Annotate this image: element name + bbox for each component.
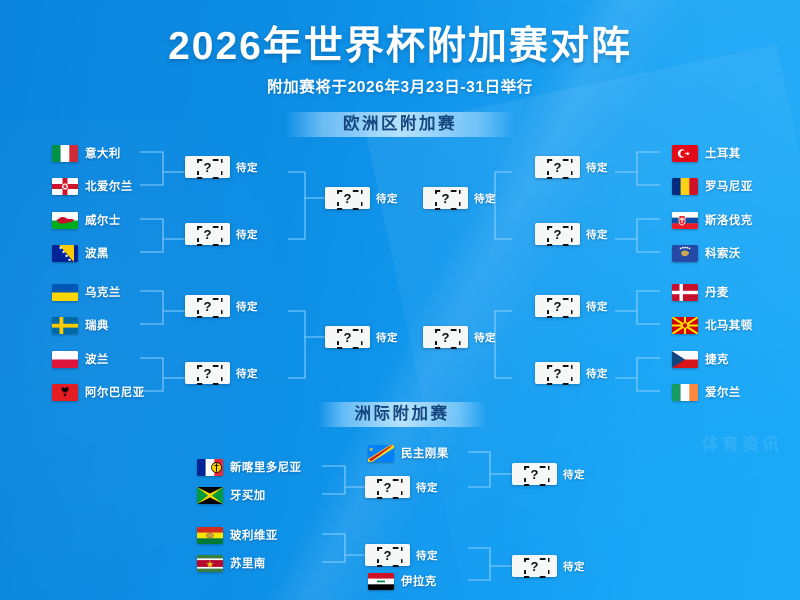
question-mark-icon: ? xyxy=(435,329,457,345)
team-row: 波兰 xyxy=(52,350,109,368)
tbd-label: 待定 xyxy=(376,330,398,345)
team-row: 北爱尔兰 xyxy=(52,177,133,195)
team-name: 北爱尔兰 xyxy=(85,178,133,194)
flag-bolivia-icon xyxy=(197,527,223,544)
question-mark-icon: ? xyxy=(377,547,399,563)
match-slot-tbd-final: ? 待定 xyxy=(512,555,585,577)
tbd-label: 待定 xyxy=(474,330,496,345)
playoff-bracket-poster: 体育资讯 2026年世界杯附加赛对阵 附加赛将于2026年3月23日-31日举行… xyxy=(0,0,800,600)
match-slot-tbd-final: ? 待定 xyxy=(512,463,585,485)
flag-iraq-icon xyxy=(368,573,394,590)
flag-new-caledonia-icon xyxy=(197,459,223,476)
tbd-label: 待定 xyxy=(586,299,608,314)
tbd-box: ? xyxy=(512,555,557,577)
flag-poland-icon xyxy=(52,351,78,368)
team-row: 瑞典 xyxy=(52,316,109,334)
question-mark-icon: ? xyxy=(524,558,546,574)
team-name: 牙买加 xyxy=(230,487,266,503)
question-mark-icon: ? xyxy=(524,466,546,482)
match-slot-tbd: ? 待定 xyxy=(535,362,608,384)
tbd-box: ? xyxy=(365,544,410,566)
team-row: 民主刚果 xyxy=(368,444,449,462)
question-mark-icon: ? xyxy=(547,226,569,242)
team-row: 北马其顿 xyxy=(672,316,753,334)
team-name: 爱尔兰 xyxy=(705,384,741,400)
flag-ireland-icon xyxy=(672,384,698,401)
match-slot-tbd-final: ? 待定 xyxy=(325,187,398,209)
match-slot-tbd-final: ? 待定 xyxy=(423,326,496,348)
team-row: 阿尔巴尼亚 xyxy=(52,383,145,401)
question-mark-icon: ? xyxy=(547,365,569,381)
team-name: 苏里南 xyxy=(230,555,266,571)
flag-ukraine-icon xyxy=(52,284,78,301)
team-row: 威尔士 xyxy=(52,211,121,229)
tbd-box: ? xyxy=(423,187,468,209)
match-slot-tbd: ? 待定 xyxy=(365,476,438,498)
tbd-label: 待定 xyxy=(563,467,585,482)
tbd-box: ? xyxy=(535,295,580,317)
team-name: 波黑 xyxy=(85,245,109,261)
tbd-box: ? xyxy=(423,326,468,348)
question-mark-icon: ? xyxy=(377,479,399,495)
team-name: 伊拉克 xyxy=(401,573,437,589)
team-name: 北马其顿 xyxy=(705,317,753,333)
question-mark-icon: ? xyxy=(197,298,219,314)
tbd-box: ? xyxy=(512,463,557,485)
flag-albania-icon xyxy=(52,384,78,401)
flag-romania-icon xyxy=(672,178,698,195)
tbd-label: 待定 xyxy=(586,160,608,175)
section-banner-europe: 欧洲区附加赛 xyxy=(285,112,515,137)
tbd-label: 待定 xyxy=(236,366,258,381)
tbd-box: ? xyxy=(185,156,230,178)
match-slot-tbd-final: ? 待定 xyxy=(325,326,398,348)
flag-sweden-icon xyxy=(52,317,78,334)
match-slot-tbd: ? 待定 xyxy=(185,156,258,178)
team-row: 新喀里多尼亚 xyxy=(197,458,301,476)
question-mark-icon: ? xyxy=(547,159,569,175)
tbd-label: 待定 xyxy=(563,559,585,574)
team-row: 爱尔兰 xyxy=(672,383,741,401)
team-row: 乌克兰 xyxy=(52,283,121,301)
flag-jamaica-icon xyxy=(197,487,223,504)
question-mark-icon: ? xyxy=(337,329,359,345)
flag-northern-ireland-icon xyxy=(52,178,78,195)
tbd-label: 待定 xyxy=(586,227,608,242)
team-row: 牙买加 xyxy=(197,486,266,504)
match-slot-tbd: ? 待定 xyxy=(185,362,258,384)
team-row: 土耳其 xyxy=(672,144,741,162)
team-row: 意大利 xyxy=(52,144,121,162)
team-row: 伊拉克 xyxy=(368,572,437,590)
team-name: 捷克 xyxy=(705,351,729,367)
tbd-label: 待定 xyxy=(474,191,496,206)
flag-denmark-icon xyxy=(672,284,698,301)
tbd-box: ? xyxy=(535,223,580,245)
flag-wales-icon xyxy=(52,212,78,229)
flag-kosovo-icon xyxy=(672,245,698,262)
team-row: 玻利维亚 xyxy=(197,526,278,544)
tbd-box: ? xyxy=(535,362,580,384)
question-mark-icon: ? xyxy=(197,226,219,242)
team-name: 新喀里多尼亚 xyxy=(230,459,301,475)
match-slot-tbd: ? 待定 xyxy=(535,223,608,245)
tbd-label: 待定 xyxy=(416,548,438,563)
tbd-label: 待定 xyxy=(236,299,258,314)
team-row: 科索沃 xyxy=(672,244,741,262)
team-row: 丹麦 xyxy=(672,283,729,301)
tbd-label: 待定 xyxy=(236,160,258,175)
page-subtitle: 附加赛将于2026年3月23日-31日举行 xyxy=(0,75,800,97)
flag-turkey-icon xyxy=(672,145,698,162)
team-name: 罗马尼亚 xyxy=(705,178,753,194)
team-name: 丹麦 xyxy=(705,284,729,300)
team-row: 苏里南 xyxy=(197,554,266,572)
poster-header: 2026年世界杯附加赛对阵 附加赛将于2026年3月23日-31日举行 xyxy=(0,26,800,97)
flag-dr-congo-icon xyxy=(368,445,394,462)
question-mark-icon: ? xyxy=(435,190,457,206)
tbd-label: 待定 xyxy=(416,480,438,495)
team-row: 斯洛伐克 xyxy=(672,211,753,229)
tbd-box: ? xyxy=(185,362,230,384)
match-slot-tbd: ? 待定 xyxy=(365,544,438,566)
team-name: 意大利 xyxy=(85,145,121,161)
tbd-box: ? xyxy=(535,156,580,178)
flag-italy-icon xyxy=(52,145,78,162)
tbd-box: ? xyxy=(185,223,230,245)
team-name: 科索沃 xyxy=(705,245,741,261)
question-mark-icon: ? xyxy=(197,365,219,381)
team-name: 玻利维亚 xyxy=(230,527,278,543)
team-name: 乌克兰 xyxy=(85,284,121,300)
match-slot-tbd: ? 待定 xyxy=(185,295,258,317)
flag-slovakia-icon xyxy=(672,212,698,229)
team-name: 斯洛伐克 xyxy=(705,212,753,228)
match-slot-tbd-final: ? 待定 xyxy=(423,187,496,209)
team-name: 阿尔巴尼亚 xyxy=(85,384,145,400)
question-mark-icon: ? xyxy=(197,159,219,175)
tbd-box: ? xyxy=(325,326,370,348)
team-row: 罗马尼亚 xyxy=(672,177,753,195)
team-name: 威尔士 xyxy=(85,212,121,228)
match-slot-tbd: ? 待定 xyxy=(185,223,258,245)
team-row: 波黑 xyxy=(52,244,109,262)
tbd-box: ? xyxy=(365,476,410,498)
tbd-box: ? xyxy=(185,295,230,317)
match-slot-tbd: ? 待定 xyxy=(535,156,608,178)
tbd-label: 待定 xyxy=(236,227,258,242)
page-title: 2026年世界杯附加赛对阵 xyxy=(0,26,800,67)
flag-czech-icon xyxy=(672,351,698,368)
watermark: 体育资讯 xyxy=(702,430,782,455)
tbd-label: 待定 xyxy=(376,191,398,206)
team-name: 民主刚果 xyxy=(401,445,449,461)
tbd-label: 待定 xyxy=(586,366,608,381)
question-mark-icon: ? xyxy=(337,190,359,206)
flag-north-macedonia-icon xyxy=(672,317,698,334)
team-name: 波兰 xyxy=(85,351,109,367)
flag-suriname-icon xyxy=(197,555,223,572)
team-name: 瑞典 xyxy=(85,317,109,333)
team-name: 土耳其 xyxy=(705,145,741,161)
question-mark-icon: ? xyxy=(547,298,569,314)
match-slot-tbd: ? 待定 xyxy=(535,295,608,317)
team-row: 捷克 xyxy=(672,350,729,368)
flag-bosnia-icon xyxy=(52,245,78,262)
tbd-box: ? xyxy=(325,187,370,209)
section-banner-intercontinental: 洲际附加赛 xyxy=(318,402,486,427)
